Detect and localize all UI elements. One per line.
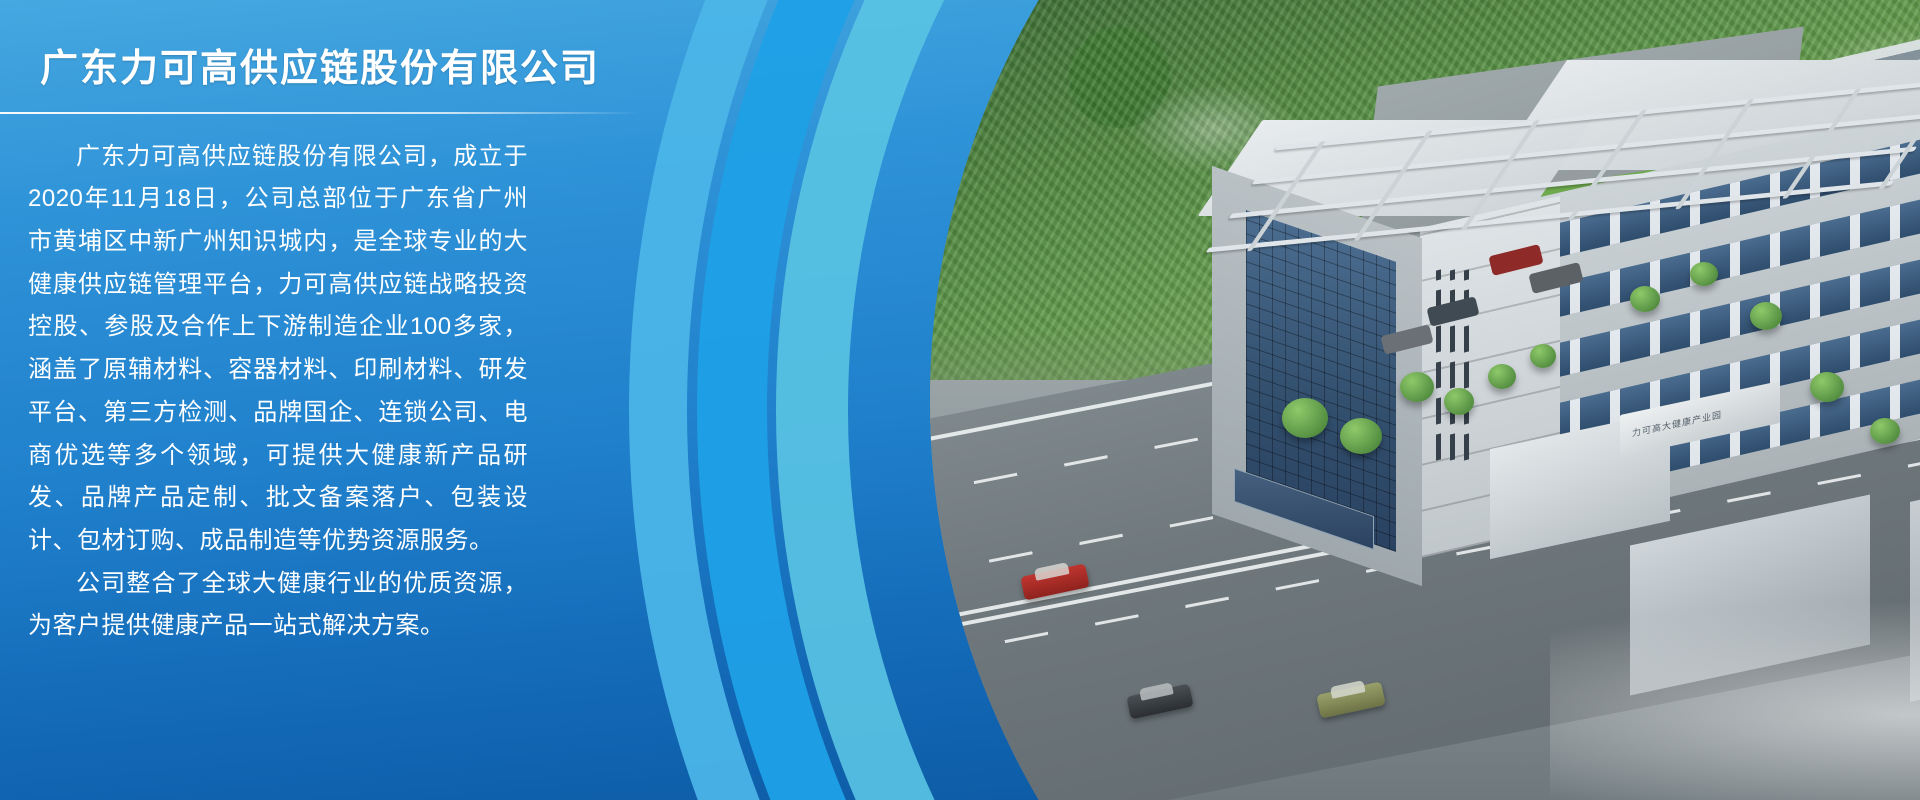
tree	[1340, 418, 1382, 454]
facade-slit-window	[1450, 269, 1455, 460]
intro-paragraph-1: 广东力可高供应链股份有限公司，成立于2020年11月18日，公司总部位于广东省广…	[28, 136, 528, 563]
tree	[1488, 364, 1516, 389]
page-title: 广东力可高供应链股份有限公司	[40, 46, 700, 94]
intro-body: 广东力可高供应链股份有限公司，成立于2020年11月18日，公司总部位于广东省广…	[28, 136, 528, 649]
tree	[1810, 372, 1844, 402]
signage-text: 力可高大健康产业园	[1632, 407, 1722, 439]
intro-paragraph-2: 公司整合了全球大健康行业的优质资源，为客户提供健康产品一站式解决方案。	[28, 563, 528, 648]
company-intro-banner: 力可高大健康产业园	[0, 0, 1920, 800]
facade-slit-window	[1436, 269, 1441, 460]
title-divider	[0, 112, 640, 114]
tree	[1870, 418, 1900, 444]
tree	[1690, 262, 1718, 286]
tree	[1444, 388, 1474, 415]
tree	[1282, 398, 1328, 438]
tree	[1530, 344, 1556, 368]
intro-text-panel: 广东力可高供应链股份有限公司 广东力可高供应链股份有限公司，成立于2020年11…	[0, 0, 700, 800]
tree	[1400, 372, 1434, 402]
tree	[1750, 302, 1782, 330]
building-render-photo: 力可高大健康产业园	[930, 0, 1920, 800]
tree	[1630, 286, 1660, 312]
